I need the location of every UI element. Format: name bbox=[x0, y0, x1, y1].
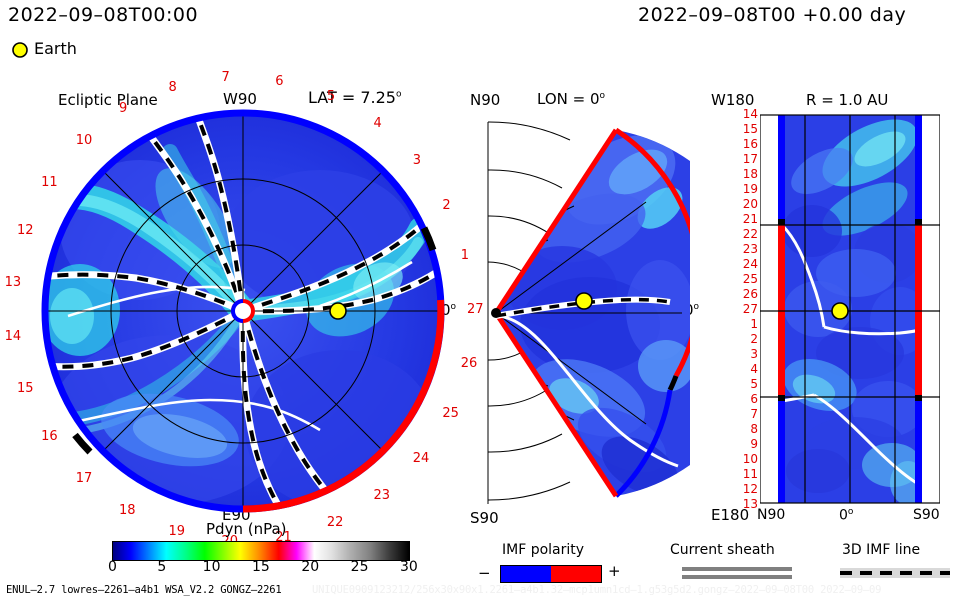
colorbar-tick: 20 bbox=[301, 560, 319, 574]
imf-polarity-negative-swatch bbox=[501, 566, 551, 582]
shell-y-tick: 25 bbox=[743, 273, 758, 285]
ecliptic-rim-tick: 15 bbox=[17, 382, 34, 395]
ecliptic-rim-tick: 22 bbox=[327, 516, 344, 529]
shell-y-tick: 17 bbox=[743, 153, 758, 165]
colorbar-tick: 15 bbox=[252, 560, 270, 574]
shell-y-tick: 21 bbox=[743, 213, 758, 225]
shell-y-tick: 20 bbox=[743, 198, 758, 210]
shell-y-tick: 10 bbox=[743, 453, 758, 465]
ecliptic-rim-tick: 8 bbox=[168, 81, 176, 94]
shell-y-tick: 6 bbox=[750, 393, 758, 405]
shell-right-edge-positive bbox=[915, 225, 922, 395]
colorbar-title: Pdyn (nPa) bbox=[206, 522, 287, 537]
shell-y-tick: 9 bbox=[750, 438, 758, 450]
shell-y-tick: 14 bbox=[743, 108, 758, 120]
ecliptic-rim-tick: 2 bbox=[442, 199, 450, 212]
shell-y-tick: 1 bbox=[750, 318, 758, 330]
shell-y-tick: 2 bbox=[750, 333, 758, 345]
shell-xtick-zero: 0o bbox=[839, 508, 853, 523]
shell-y-tick: 26 bbox=[743, 288, 758, 300]
shell-y-tick: 15 bbox=[743, 123, 758, 135]
colorbar bbox=[112, 541, 410, 561]
ecliptic-rim-tick: 13 bbox=[5, 276, 22, 289]
ecliptic-rim-tick: 16 bbox=[41, 430, 58, 443]
shell-y-tick: 16 bbox=[743, 138, 758, 150]
shell-y-tick-labels: 1415161718192021222324252627123456789101… bbox=[726, 105, 760, 515]
colorbar-tick: 25 bbox=[351, 560, 369, 574]
visualization-root: 2022–09–08T00:00 2022–09–08T00 +0.00 day… bbox=[0, 0, 960, 600]
ecliptic-rim-ticks: 1920212223242526271234567891011121314151… bbox=[0, 0, 470, 540]
shell-y-tick: 7 bbox=[750, 408, 758, 420]
shell-right-edge-negative bbox=[915, 115, 922, 219]
colorbar-tick: 10 bbox=[203, 560, 221, 574]
colorbar-tick: 30 bbox=[400, 560, 418, 574]
ecliptic-rim-tick: 19 bbox=[168, 525, 185, 538]
colorbar-tick-labels: 051015202530 bbox=[100, 560, 430, 580]
shell-xtick-zero-units: o bbox=[848, 507, 854, 517]
shell-xtick-n90: N90 bbox=[757, 508, 785, 522]
ecliptic-rim-tick: 14 bbox=[5, 330, 22, 343]
shell-left-edge-negative bbox=[778, 115, 785, 219]
ecliptic-rim-tick: 24 bbox=[413, 452, 430, 465]
current-sheath-legend-title: Current sheath bbox=[670, 543, 775, 557]
shell-plot[interactable] bbox=[760, 113, 940, 505]
imf-polarity-swatch bbox=[500, 565, 602, 583]
imf-polarity-plus-label: + bbox=[608, 564, 621, 579]
ecliptic-rim-tick: 17 bbox=[76, 472, 93, 485]
imf-line-swatch bbox=[840, 566, 950, 580]
meridional-top-label: N90 bbox=[470, 93, 500, 108]
shell-panel-title: R = 1.0 AU bbox=[806, 93, 888, 108]
ecliptic-rim-tick: 12 bbox=[17, 224, 34, 237]
ecliptic-rim-tick: 10 bbox=[76, 134, 93, 147]
shell-y-tick: 4 bbox=[750, 363, 758, 375]
shell-y-tick: 8 bbox=[750, 423, 758, 435]
meridional-bottom-label: S90 bbox=[470, 511, 499, 526]
colorbar-tick: 5 bbox=[157, 560, 166, 574]
ecliptic-rim-tick: 7 bbox=[222, 71, 230, 84]
shell-left-edge-negative-2 bbox=[778, 401, 785, 503]
meridional-plane-plot[interactable] bbox=[470, 110, 690, 510]
ecliptic-rim-tick: 3 bbox=[413, 154, 421, 167]
imf-polarity-positive-swatch bbox=[551, 566, 601, 582]
shell-y-tick: 24 bbox=[743, 258, 758, 270]
shell-y-tick: 3 bbox=[750, 348, 758, 360]
ecliptic-rim-tick: 6 bbox=[275, 75, 283, 88]
imf-polarity-minus-label: − bbox=[478, 566, 491, 581]
shell-left-edge-neutral bbox=[778, 219, 785, 225]
shell-left-edge-neutral-2 bbox=[778, 395, 785, 401]
shell-y-tick: 12 bbox=[743, 483, 758, 495]
shell-y-tick: 22 bbox=[743, 228, 758, 240]
imf-polarity-legend-title: IMF polarity bbox=[502, 543, 584, 557]
sun-marker-meridional bbox=[491, 308, 501, 318]
shell-y-tick: 5 bbox=[750, 378, 758, 390]
current-sheath-swatch bbox=[682, 566, 792, 580]
shell-y-tick: 13 bbox=[743, 498, 758, 510]
shell-y-tick: 19 bbox=[743, 183, 758, 195]
shell-xtick-zero-value: 0 bbox=[839, 508, 848, 524]
ecliptic-rim-tick: 5 bbox=[327, 90, 335, 103]
shell-xtick-s90: S90 bbox=[913, 508, 940, 522]
shell-right-edge-neutral bbox=[915, 219, 922, 225]
shell-left-edge-positive bbox=[778, 225, 785, 395]
meridional-title-units: o bbox=[600, 91, 606, 101]
colorbar-tick: 0 bbox=[108, 560, 117, 574]
shell-y-tick: 23 bbox=[743, 243, 758, 255]
ecliptic-rim-tick: 25 bbox=[442, 407, 459, 420]
meridional-panel-title: LON = 0o bbox=[537, 92, 605, 107]
shell-right-edge-negative-2 bbox=[915, 401, 922, 503]
ecliptic-rim-tick: 11 bbox=[41, 176, 58, 189]
ecliptic-rim-tick: 18 bbox=[119, 504, 136, 517]
shell-right-edge-neutral-2 bbox=[915, 395, 922, 401]
shell-y-tick: 27 bbox=[743, 303, 758, 315]
timestamp-right: 2022–09–08T00 +0.00 day bbox=[638, 6, 906, 25]
earth-marker-meridional[interactable] bbox=[576, 293, 592, 309]
ecliptic-rim-tick: 9 bbox=[119, 102, 127, 115]
ecliptic-rim-tick: 4 bbox=[374, 117, 382, 130]
earth-marker-shell[interactable] bbox=[832, 303, 848, 319]
imf-line-legend-title: 3D IMF line bbox=[842, 543, 920, 557]
ecliptic-rim-tick: 23 bbox=[374, 489, 391, 502]
meridional-title-value: LON = 0 bbox=[537, 90, 600, 108]
footer-right: UNIQUE0909123212/256x30x90x1.2261–a4b1.3… bbox=[312, 585, 881, 596]
meridional-right-units: o bbox=[694, 302, 700, 312]
ecliptic-rim-tick: 1 bbox=[461, 249, 469, 262]
shell-y-tick: 18 bbox=[743, 168, 758, 180]
shell-y-tick: 11 bbox=[743, 468, 758, 480]
footer-left: ENUL–2.7 lowres–2261–a4b1 WSA_V2.2 GONGZ… bbox=[6, 585, 281, 596]
